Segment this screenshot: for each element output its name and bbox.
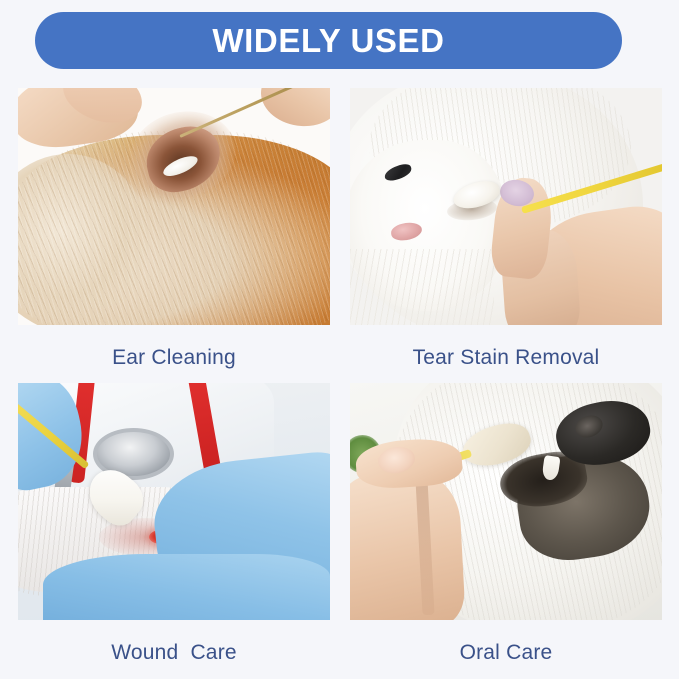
- bottom-glove-shape: [43, 554, 330, 620]
- wound-care-photo: [18, 383, 330, 620]
- widely-used-banner: WIDELY USED: [35, 12, 622, 69]
- use-case-card-wound-care: Wound Care: [18, 383, 330, 665]
- hand-shape: [350, 470, 466, 620]
- use-case-card-tear-stain-removal: Tear Stain Removal: [350, 88, 662, 370]
- tear-stain-removal-photo: [350, 88, 662, 325]
- card-caption: Ear Cleaning: [18, 325, 330, 370]
- oral-care-photo: [350, 383, 662, 620]
- card-caption: Tear Stain Removal: [350, 325, 662, 370]
- card-caption: Wound Care: [18, 620, 330, 665]
- infographic-page: WIDELY USED Ear Cleaning: [0, 0, 679, 679]
- use-case-grid: Ear Cleaning Tear Stain Removal: [18, 88, 662, 668]
- banner-title: WIDELY USED: [212, 22, 444, 60]
- cat-whiskers: [350, 249, 494, 325]
- use-case-card-oral-care: Oral Care: [350, 383, 662, 665]
- ear-cleaning-photo: [18, 88, 330, 325]
- use-case-card-ear-cleaning: Ear Cleaning: [18, 88, 330, 370]
- card-caption: Oral Care: [350, 620, 662, 665]
